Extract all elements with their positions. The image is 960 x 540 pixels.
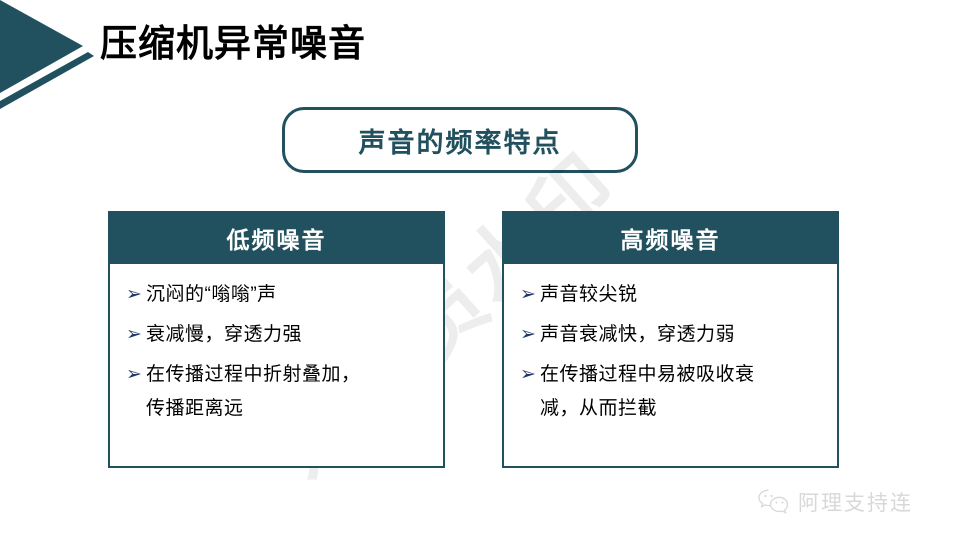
diagonal-slash	[0, 52, 94, 109]
list-item-line-1: 声音较尖锐	[540, 284, 638, 305]
card-header-high-frequency: 高频噪音	[502, 211, 839, 264]
bullet-arrow-icon: ➢	[120, 358, 146, 392]
bullet-arrow-icon: ➢	[514, 318, 540, 352]
page-title: 压缩机异常噪音	[100, 21, 366, 67]
list-item-text: 声音较尖锐	[540, 278, 827, 312]
wechat-account-label: 阿理支持连	[798, 487, 913, 517]
wechat-icon	[757, 488, 791, 516]
card-low-frequency: 低频噪音 ➢ 沉闷的“嗡嗡”声 ➢ 衰减慢，穿透力强 ➢ 在传播过程中折射叠加，…	[108, 211, 445, 468]
list-item: ➢ 声音较尖锐	[514, 278, 827, 312]
list-item-line-1: 在传播过程中折射叠加，	[146, 364, 361, 385]
list-item-text: 衰减慢，穿透力强	[146, 318, 433, 352]
list-item: ➢ 在传播过程中折射叠加， 传播距离远	[120, 358, 433, 426]
list-item-line-1: 在传播过程中易被吸收衰	[540, 364, 755, 385]
list-item-text: 在传播过程中折射叠加， 传播距离远	[146, 358, 433, 426]
right-pointing-triangle	[0, 0, 83, 93]
card-header-low-frequency: 低频噪音	[108, 211, 445, 264]
bullet-arrow-icon: ➢	[514, 278, 540, 312]
card-body-low-frequency: ➢ 沉闷的“嗡嗡”声 ➢ 衰减慢，穿透力强 ➢ 在传播过程中折射叠加， 传播距离…	[110, 264, 443, 426]
list-item-line-1: 衰减慢，穿透力强	[146, 324, 302, 345]
bullet-arrow-icon: ➢	[120, 318, 146, 352]
bullet-arrow-icon: ➢	[514, 358, 540, 392]
section-banner: 声音的频率特点	[282, 107, 638, 173]
list-item-text: 声音衰减快，穿透力弱	[540, 318, 827, 352]
section-banner-label: 声音的频率特点	[359, 121, 562, 160]
bullet-arrow-icon: ➢	[120, 278, 146, 312]
list-item: ➢ 衰减慢，穿透力强	[120, 318, 433, 352]
card-body-high-frequency: ➢ 声音较尖锐 ➢ 声音衰减快，穿透力弱 ➢ 在传播过程中易被吸收衰 减，从而拦…	[504, 264, 837, 426]
list-item-line-1: 沉闷的“嗡嗡”声	[146, 284, 277, 305]
list-item-text: 沉闷的“嗡嗡”声	[146, 278, 433, 312]
list-item-text: 在传播过程中易被吸收衰 减，从而拦截	[540, 358, 827, 426]
wechat-watermark: 阿理支持连	[757, 487, 913, 517]
card-high-frequency: 高频噪音 ➢ 声音较尖锐 ➢ 声音衰减快，穿透力弱 ➢ 在传播过程中易被吸收衰 …	[502, 211, 839, 468]
list-item: ➢ 在传播过程中易被吸收衰 减，从而拦截	[514, 358, 827, 426]
list-item: ➢ 沉闷的“嗡嗡”声	[120, 278, 433, 312]
slide-canvas: 压缩机异常噪音 声音的频率特点 开会员水印 低频噪音 ➢ 沉闷的“嗡嗡”声 ➢ …	[0, 0, 960, 540]
list-item-line-2: 减，从而拦截	[540, 392, 827, 426]
list-item: ➢ 声音衰减快，穿透力弱	[514, 318, 827, 352]
list-item-line-2: 传播距离远	[146, 392, 433, 426]
list-item-line-1: 声音衰减快，穿透力弱	[540, 324, 735, 345]
